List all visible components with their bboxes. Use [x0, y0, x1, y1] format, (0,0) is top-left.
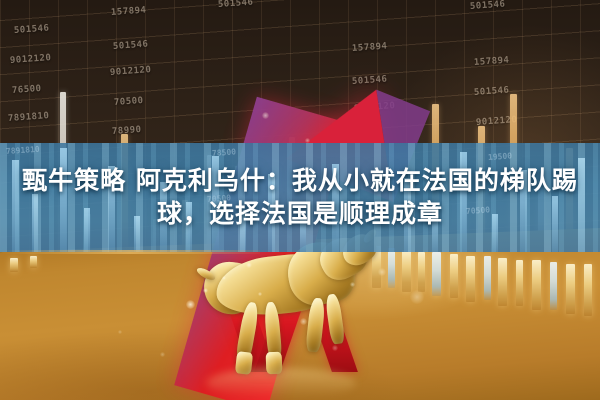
gold-column [432, 252, 441, 296]
gold-column [484, 256, 491, 300]
bull-floor-reflection [206, 368, 356, 398]
gold-column [550, 262, 557, 310]
news-thumbnail-image: 5015469012120765007891810157894501546901… [0, 0, 600, 400]
gold-column [450, 254, 458, 298]
gold-column [498, 258, 507, 306]
headline-line-2: 球，选择法国是顺理成章 [157, 201, 443, 227]
headline-line-1: 甄牛策略 阿克利乌什：我从小就在法国的梯队踢 [22, 168, 578, 194]
gold-column [532, 260, 541, 310]
gold-column [466, 256, 475, 302]
gold-column [418, 252, 425, 292]
gold-column [566, 264, 575, 314]
gold-column [584, 264, 592, 316]
gold-column [388, 248, 395, 288]
bull-hind-leg-right [325, 293, 346, 344]
golden-bull-statue [196, 236, 372, 386]
gold-column [30, 256, 37, 268]
gold-column [516, 260, 523, 306]
gold-column [10, 258, 18, 272]
gold-column [402, 250, 411, 292]
headline-text-block: 甄牛策略 阿克利乌什：我从小就在法国的梯队踢 球，选择法国是顺理成章 [0, 143, 600, 252]
